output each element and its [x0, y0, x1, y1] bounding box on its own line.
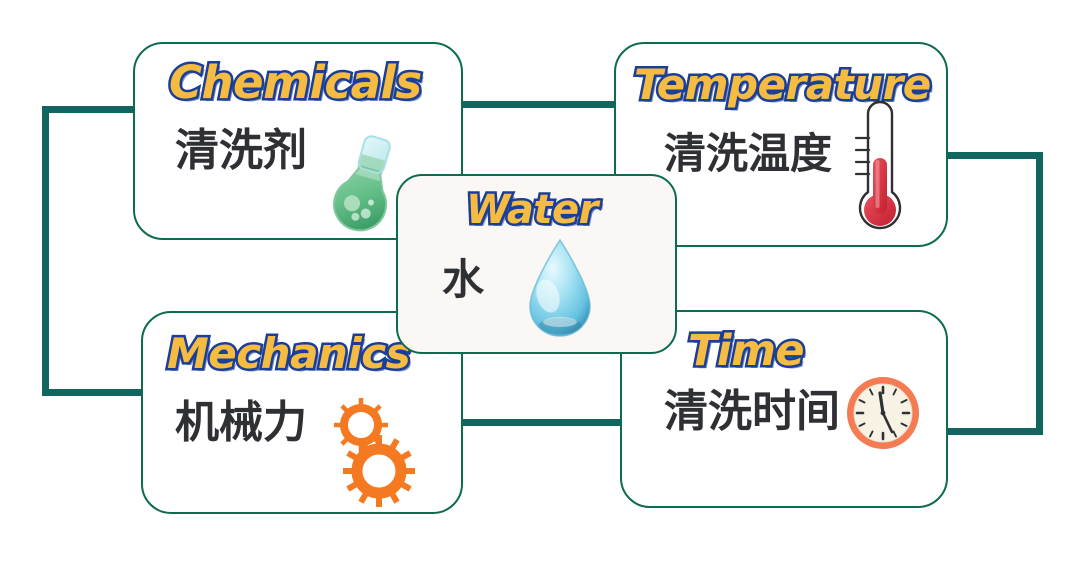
- card-label-mechanics: 机械力: [175, 401, 307, 445]
- gears-icon: [321, 395, 439, 507]
- card-title-mechanics: Mechanics: [167, 333, 410, 375]
- water-droplet-icon: [510, 234, 610, 350]
- connector-bottom-middle-bar: [458, 419, 640, 426]
- clock-icon: [844, 374, 922, 452]
- connector-top-middle-bar: [458, 101, 624, 108]
- diagram-canvas: Chemicals 清洗剂: [0, 0, 1080, 579]
- card-water[interactable]: Water 水: [396, 174, 677, 354]
- card-title-water: Water: [466, 190, 598, 230]
- card-label-water: 水: [442, 259, 484, 301]
- connector-left-bottom-stub: [42, 389, 148, 396]
- connector-right-vertical: [1036, 152, 1043, 435]
- card-title-time: Time: [688, 330, 804, 373]
- thermometer-icon: [844, 100, 906, 242]
- card-title-chemicals: Chemicals: [169, 60, 422, 105]
- connector-left-vertical: [42, 106, 49, 396]
- card-label-time: 清洗时间: [664, 390, 840, 434]
- connector-right-bottom-stub: [935, 428, 1043, 435]
- card-label-temperature: 清洗温度: [664, 133, 832, 175]
- connector-right-top-stub: [935, 152, 1043, 159]
- card-label-chemicals: 清洗剂: [175, 129, 307, 173]
